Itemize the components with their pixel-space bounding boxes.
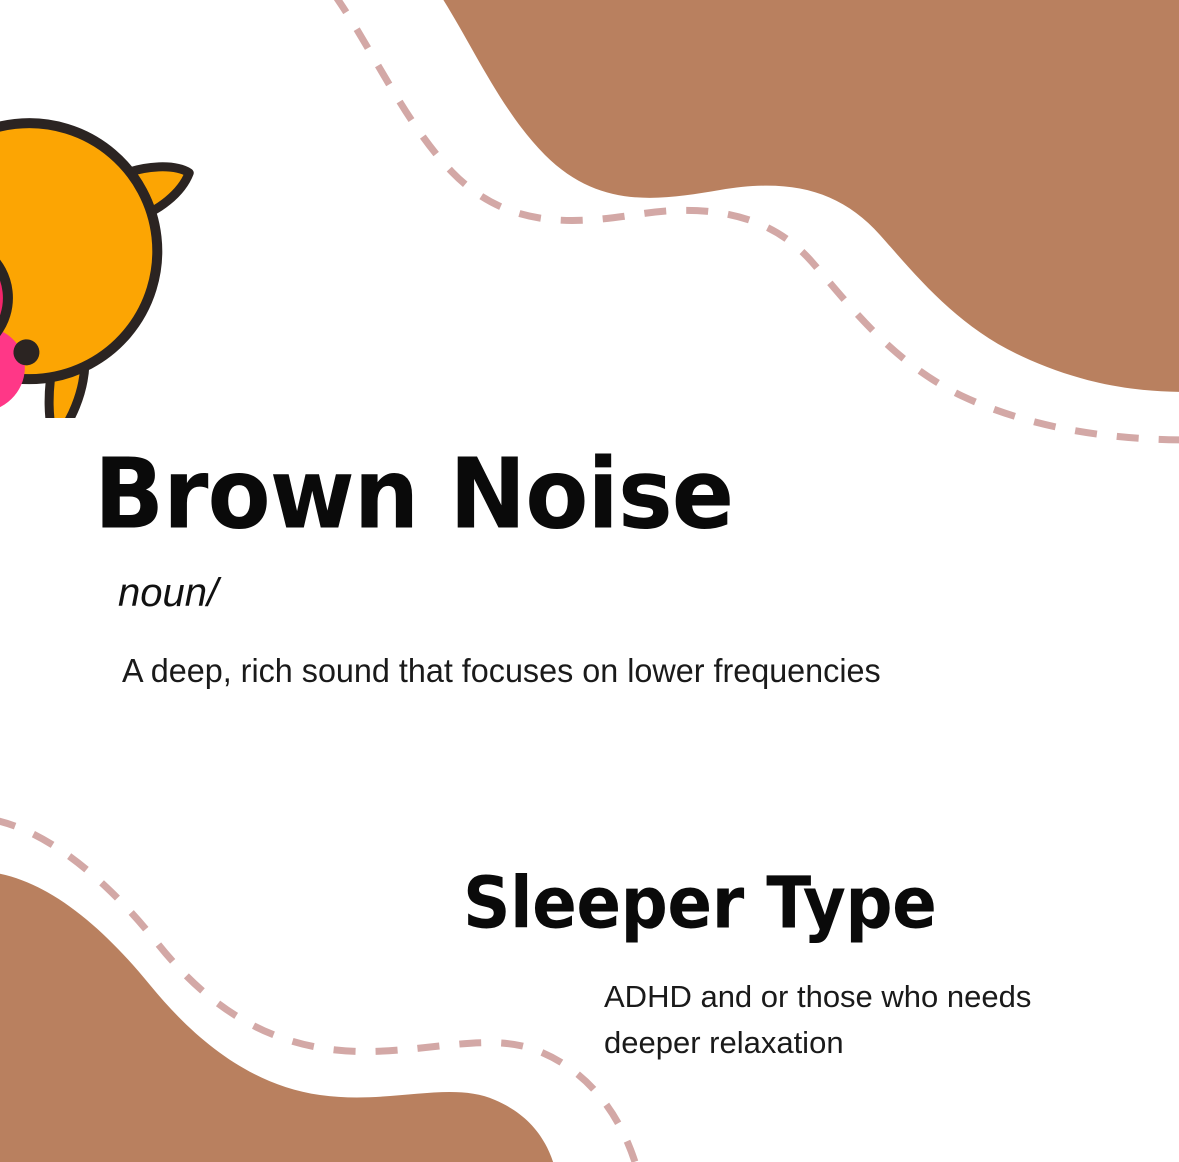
page-title: Brown Noise	[94, 446, 733, 544]
definition-text: A deep, rich sound that focuses on lower…	[122, 650, 881, 691]
sleeper-type-description: ADHD and or those who needs deeper relax…	[604, 974, 1094, 1066]
sleeper-type-heading: Sleeper Type	[463, 868, 936, 939]
card-content: Brown Noise noun/ A deep, rich sound tha…	[0, 0, 1179, 1162]
noise-info-card: Brown Noise noun/ A deep, rich sound tha…	[0, 0, 1179, 1162]
part-of-speech-label: noun/	[118, 573, 218, 613]
